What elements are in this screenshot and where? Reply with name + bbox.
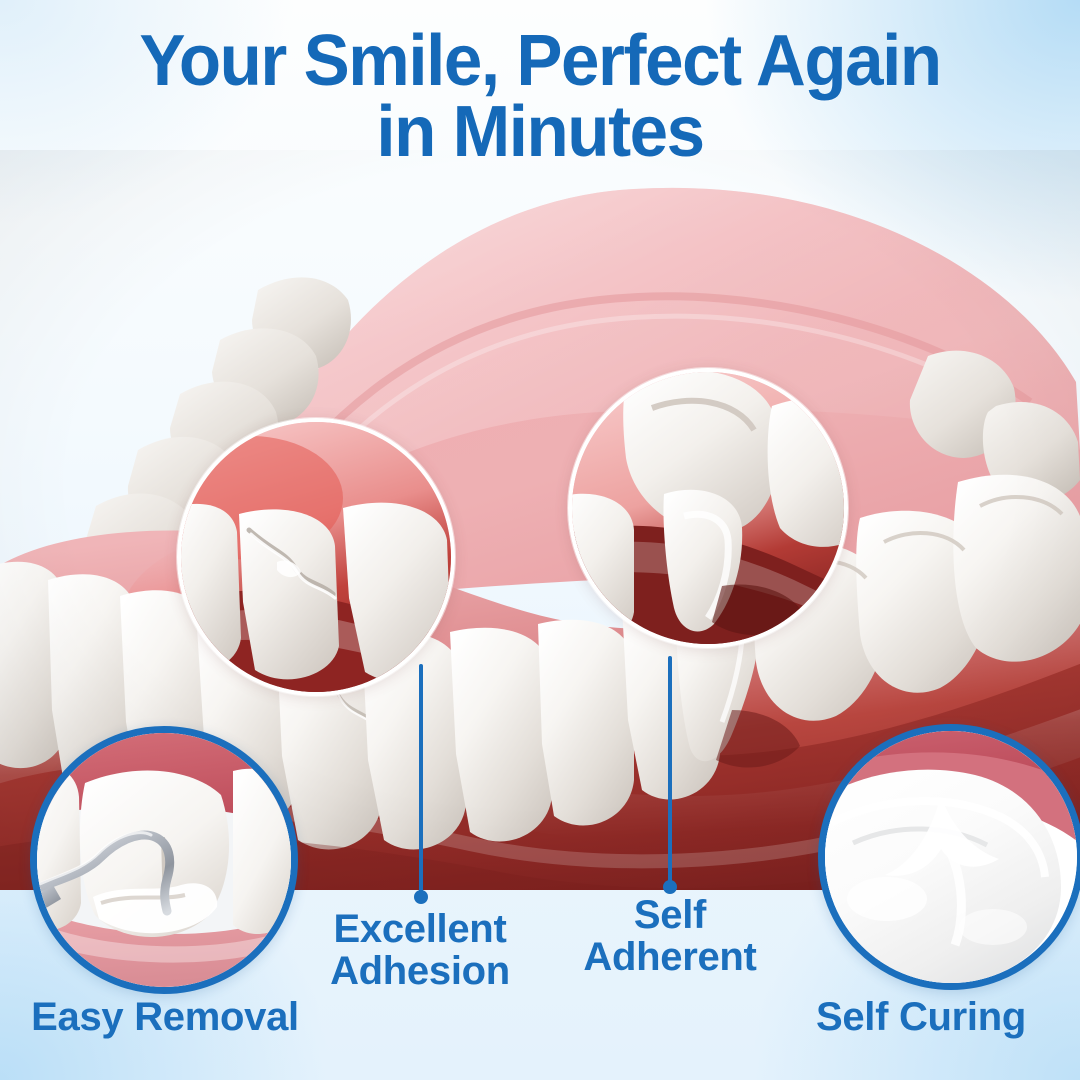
feature-label-self-adherent: Self Adherent [552, 894, 788, 979]
connector-dot [663, 880, 677, 894]
headline-line-2: in Minutes [22, 97, 1059, 168]
connector-stem [419, 664, 423, 896]
feature-label-line-2: Adherent [552, 936, 788, 978]
promo-canvas: Your Smile, Perfect Again in Minutes Exc… [0, 0, 1080, 1080]
connector-dot [414, 890, 428, 904]
feature-label-line-1: Self [552, 894, 788, 936]
headline-line-1: Your Smile, Perfect Again [139, 21, 940, 101]
page-title: Your Smile, Perfect Again in Minutes [22, 26, 1059, 167]
feature-label-excellent-adhesion: Excellent Adhesion [300, 908, 540, 993]
feature-label-easy-removal: Easy Removal [0, 996, 330, 1038]
adhesion-connector-line [419, 664, 423, 904]
feature-label-line-2: Adhesion [300, 950, 540, 992]
feature-label-line-1: Self Curing [756, 996, 1080, 1038]
feature-label-line-1: Easy Removal [0, 996, 330, 1038]
feature-label-self-curing: Self Curing [756, 996, 1080, 1038]
adherent-connector-line [668, 656, 672, 894]
connector-stem [668, 656, 672, 886]
broken-tooth-lens [568, 368, 848, 648]
cracked-tooth-lens [177, 418, 455, 696]
self-curing-bubble [818, 724, 1080, 990]
feature-label-line-1: Excellent [300, 908, 540, 950]
easy-removal-bubble [30, 726, 298, 994]
